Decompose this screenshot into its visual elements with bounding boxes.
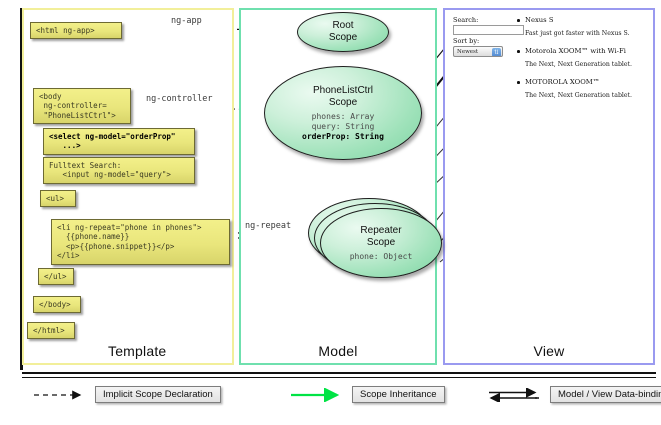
phone-snippet: Fast just got faster with Nexus S. xyxy=(516,29,648,38)
edge-label-ng-repeat: ng-repeat xyxy=(245,221,291,231)
scope-root-title-2: Scope xyxy=(329,32,357,44)
scope-phonelistctrl-title-2: Scope xyxy=(329,97,357,109)
green-arrow-icon xyxy=(289,388,345,402)
phone-name: Motorola XOOM™ with Wi-Fi xyxy=(516,47,648,56)
dashed-arrow-icon xyxy=(32,388,88,402)
scope-repeater-title-2: Scope xyxy=(367,237,395,249)
legend-label-implicit-scope-declaration: Implicit Scope Declaration xyxy=(95,386,221,403)
phone-snippet: The Next, Next Generation tablet. xyxy=(516,60,648,69)
code-box-ul-close: </ul> xyxy=(38,268,74,285)
code-box-input: Fulltext Search: <input ng-model="query"… xyxy=(43,157,195,184)
scope-phonelistctrl-props-bold: orderProp: String xyxy=(302,132,384,141)
scope-repeater: Repeater Scope phone: Object xyxy=(320,208,442,278)
edge-label-ng-app: ng-app xyxy=(171,16,202,26)
legend-item-model-view-data-binding: Model / View Data-binding xyxy=(487,386,661,403)
diagram-canvas: Template Model View <html ng-app> <body … xyxy=(0,0,661,425)
code-box-html-open: <html ng-app> xyxy=(30,22,122,39)
scope-root-title-1: Root xyxy=(332,20,353,32)
double-arrow-icon xyxy=(487,388,543,402)
code-box-html-close: </html> xyxy=(27,322,75,339)
list-item[interactable]: Nexus S Fast just got faster with Nexus … xyxy=(516,16,648,38)
panel-model: Model xyxy=(239,8,437,365)
legend: Implicit Scope Declaration Scope Inherit… xyxy=(22,386,656,416)
scope-phonelistctrl-props: phones: Array query: String orderProp: S… xyxy=(302,112,384,142)
list-item[interactable]: MOTOROLA XOOM™ The Next, Next Generation… xyxy=(516,78,648,100)
phone-name: MOTOROLA XOOM™ xyxy=(516,78,648,87)
code-box-body-open: <body ng-controller= "PhoneListCtrl"> xyxy=(33,88,131,124)
scope-root: Root Scope xyxy=(297,12,389,52)
phone-name: Nexus S xyxy=(516,16,648,25)
legend-item-implicit-scope-declaration: Implicit Scope Declaration xyxy=(32,386,221,403)
scope-phonelistctrl-props-plain: phones: Array query: String xyxy=(312,112,375,131)
panel-view-label: View xyxy=(445,343,653,359)
bottom-rule-top xyxy=(22,372,656,374)
sort-select-value: Newest xyxy=(457,49,478,55)
code-box-select: <select ng-model="orderProp" ...> xyxy=(43,128,195,155)
legend-label-model-view-data-binding: Model / View Data-binding xyxy=(550,386,661,403)
bottom-rule-bottom xyxy=(22,377,656,378)
edge-label-ng-controller: ng-controller xyxy=(146,94,213,104)
chevron-updown-icon: ⇅ xyxy=(492,48,501,57)
code-box-li-repeat: <li ng-repeat="phone in phones"> {{phone… xyxy=(51,219,230,265)
scope-repeater-props: phone: Object xyxy=(350,252,413,262)
legend-label-scope-inheritance: Scope Inheritance xyxy=(352,386,445,403)
scope-phonelistctrl-title-1: PhoneListCtrl xyxy=(313,85,373,97)
code-box-ul-open: <ul> xyxy=(40,190,76,207)
phone-list: Nexus S Fast just got faster with Nexus … xyxy=(516,16,648,109)
panel-model-label: Model xyxy=(241,343,435,359)
phone-snippet: The Next, Next Generation tablet. xyxy=(516,91,648,100)
list-item[interactable]: Motorola XOOM™ with Wi-Fi The Next, Next… xyxy=(516,47,648,69)
scope-phonelistctrl: PhoneListCtrl Scope phones: Array query:… xyxy=(264,66,422,160)
code-box-body-close: </body> xyxy=(33,296,81,313)
sort-select[interactable]: Newest ⇅ xyxy=(453,46,503,57)
scope-repeater-title-1: Repeater xyxy=(360,225,401,237)
search-input[interactable] xyxy=(453,25,524,35)
legend-item-scope-inheritance: Scope Inheritance xyxy=(289,386,445,403)
